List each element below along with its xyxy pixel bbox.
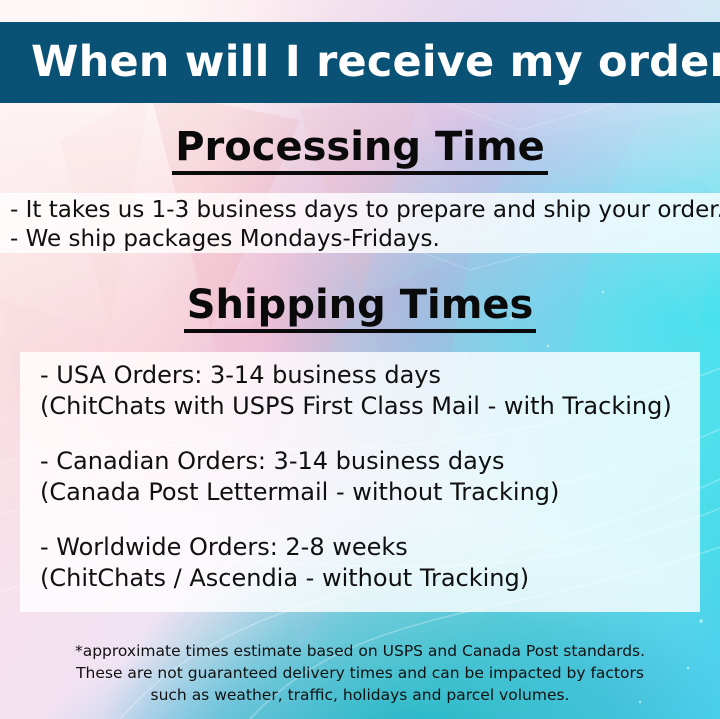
shipping-group-worldwide: - Worldwide Orders: 2-8 weeks (ChitChats… bbox=[40, 532, 700, 594]
shipping-canada-line-2: (Canada Post Lettermail - without Tracki… bbox=[40, 477, 700, 508]
section-heading-processing-time: Processing Time bbox=[0, 127, 720, 175]
section-heading-shipping-times: Shipping Times bbox=[0, 285, 720, 333]
section-heading-shipping-times-label: Shipping Times bbox=[184, 285, 537, 333]
faq-shipping-poster: When will I receive my order? Processing… bbox=[0, 0, 720, 719]
shipping-usa-line-2: (ChitChats with USPS First Class Mail - … bbox=[40, 391, 700, 422]
footnote-line-1: *approximate times estimate based on USP… bbox=[0, 640, 720, 662]
title-banner: When will I receive my order? bbox=[0, 22, 720, 103]
spacer-canada-worldwide bbox=[40, 508, 700, 532]
footnote-line-3: such as weather, traffic, holidays and p… bbox=[0, 684, 720, 706]
processing-line-2: - We ship packages Mondays-Fridays. bbox=[10, 225, 720, 254]
shipping-worldwide-line-2: (ChitChats / Ascendia - without Tracking… bbox=[40, 563, 700, 594]
shipping-times-panel: - USA Orders: 3-14 business days (ChitCh… bbox=[20, 352, 700, 612]
page-title: When will I receive my order? bbox=[0, 41, 720, 84]
shipping-group-usa: - USA Orders: 3-14 business days (ChitCh… bbox=[40, 360, 700, 422]
footnote-line-2: These are not guaranteed delivery times … bbox=[0, 662, 720, 684]
disclaimer-footnote: *approximate times estimate based on USP… bbox=[0, 640, 720, 706]
shipping-group-canada: - Canadian Orders: 3-14 business days (C… bbox=[40, 446, 700, 508]
processing-line-1: - It takes us 1-3 business days to prepa… bbox=[10, 196, 720, 225]
shipping-canada-line-1: - Canadian Orders: 3-14 business days bbox=[40, 446, 700, 477]
processing-time-panel: - It takes us 1-3 business days to prepa… bbox=[0, 193, 720, 253]
spacer-usa-canada bbox=[40, 422, 700, 446]
shipping-usa-line-1: - USA Orders: 3-14 business days bbox=[40, 360, 700, 391]
shipping-worldwide-line-1: - Worldwide Orders: 2-8 weeks bbox=[40, 532, 700, 563]
section-heading-processing-time-label: Processing Time bbox=[172, 127, 548, 175]
